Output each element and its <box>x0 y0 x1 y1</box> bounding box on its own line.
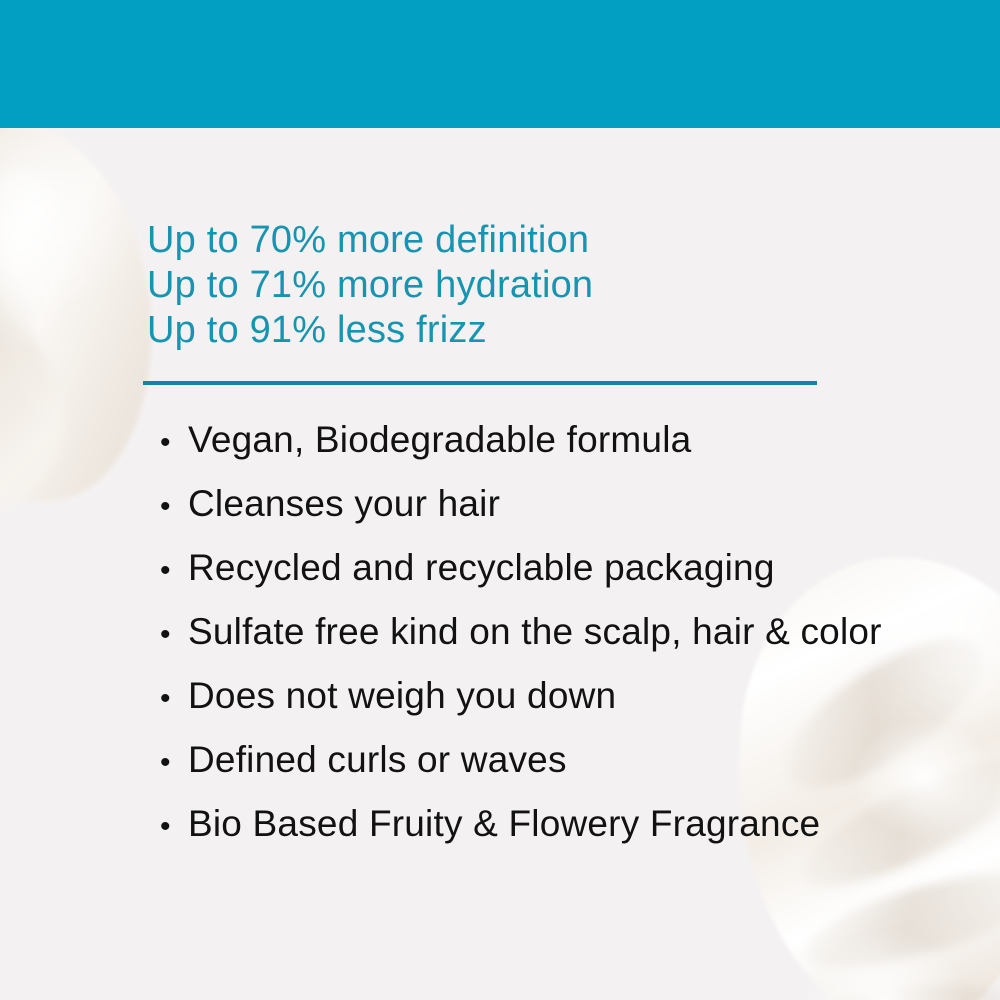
bullet-point-icon: • <box>160 556 188 586</box>
stat-claims-list: Up to 70% more definition Up to 71% more… <box>147 218 847 353</box>
list-item: • Recycled and recyclable packaging <box>160 548 960 612</box>
list-item-label: Sulfate free kind on the scalp, hair & c… <box>188 612 882 652</box>
list-item-label: Vegan, Biodegradable formula <box>188 420 691 460</box>
list-item-label: Defined curls or waves <box>188 740 567 780</box>
bullet-point-icon: • <box>160 684 188 714</box>
list-item: • Sulfate free kind on the scalp, hair &… <box>160 612 960 676</box>
stat-claim-line: Up to 71% more hydration <box>147 263 847 308</box>
header-band <box>0 0 1000 128</box>
list-item: • Vegan, Biodegradable formula <box>160 420 960 484</box>
bullet-point-icon: • <box>160 812 188 842</box>
list-item-label: Does not weigh you down <box>188 676 616 716</box>
feature-bullet-list: • Vegan, Biodegradable formula • Cleanse… <box>160 420 960 868</box>
list-item: • Defined curls or waves <box>160 740 960 804</box>
cream-ridge-icon <box>786 972 1000 1000</box>
cream-dollop-left-tail-icon <box>0 308 65 523</box>
list-item: • Cleanses your hair <box>160 484 960 548</box>
list-item: • Bio Based Fruity & Flowery Fragrance <box>160 804 960 868</box>
cream-gloss-highlight-icon <box>800 928 970 1000</box>
list-item: • Does not weigh you down <box>160 676 960 740</box>
bullet-point-icon: • <box>160 428 188 458</box>
cream-ridge-icon <box>796 856 1000 986</box>
stat-claim-line: Up to 91% less frizz <box>147 308 847 353</box>
list-item-label: Bio Based Fruity & Flowery Fragrance <box>188 804 820 844</box>
bullet-point-icon: • <box>160 492 188 522</box>
bullet-point-icon: • <box>160 748 188 778</box>
stat-claim-line: Up to 70% more definition <box>147 218 847 263</box>
bullet-point-icon: • <box>160 620 188 650</box>
section-divider <box>143 381 817 385</box>
product-features-poster: PRODUCT FEATURES Up to 70% more definiti… <box>0 0 1000 1000</box>
list-item-label: Recycled and recyclable packaging <box>188 548 775 588</box>
cream-dollop-left-highlight-icon <box>0 168 80 358</box>
list-item-label: Cleanses your hair <box>188 484 500 524</box>
